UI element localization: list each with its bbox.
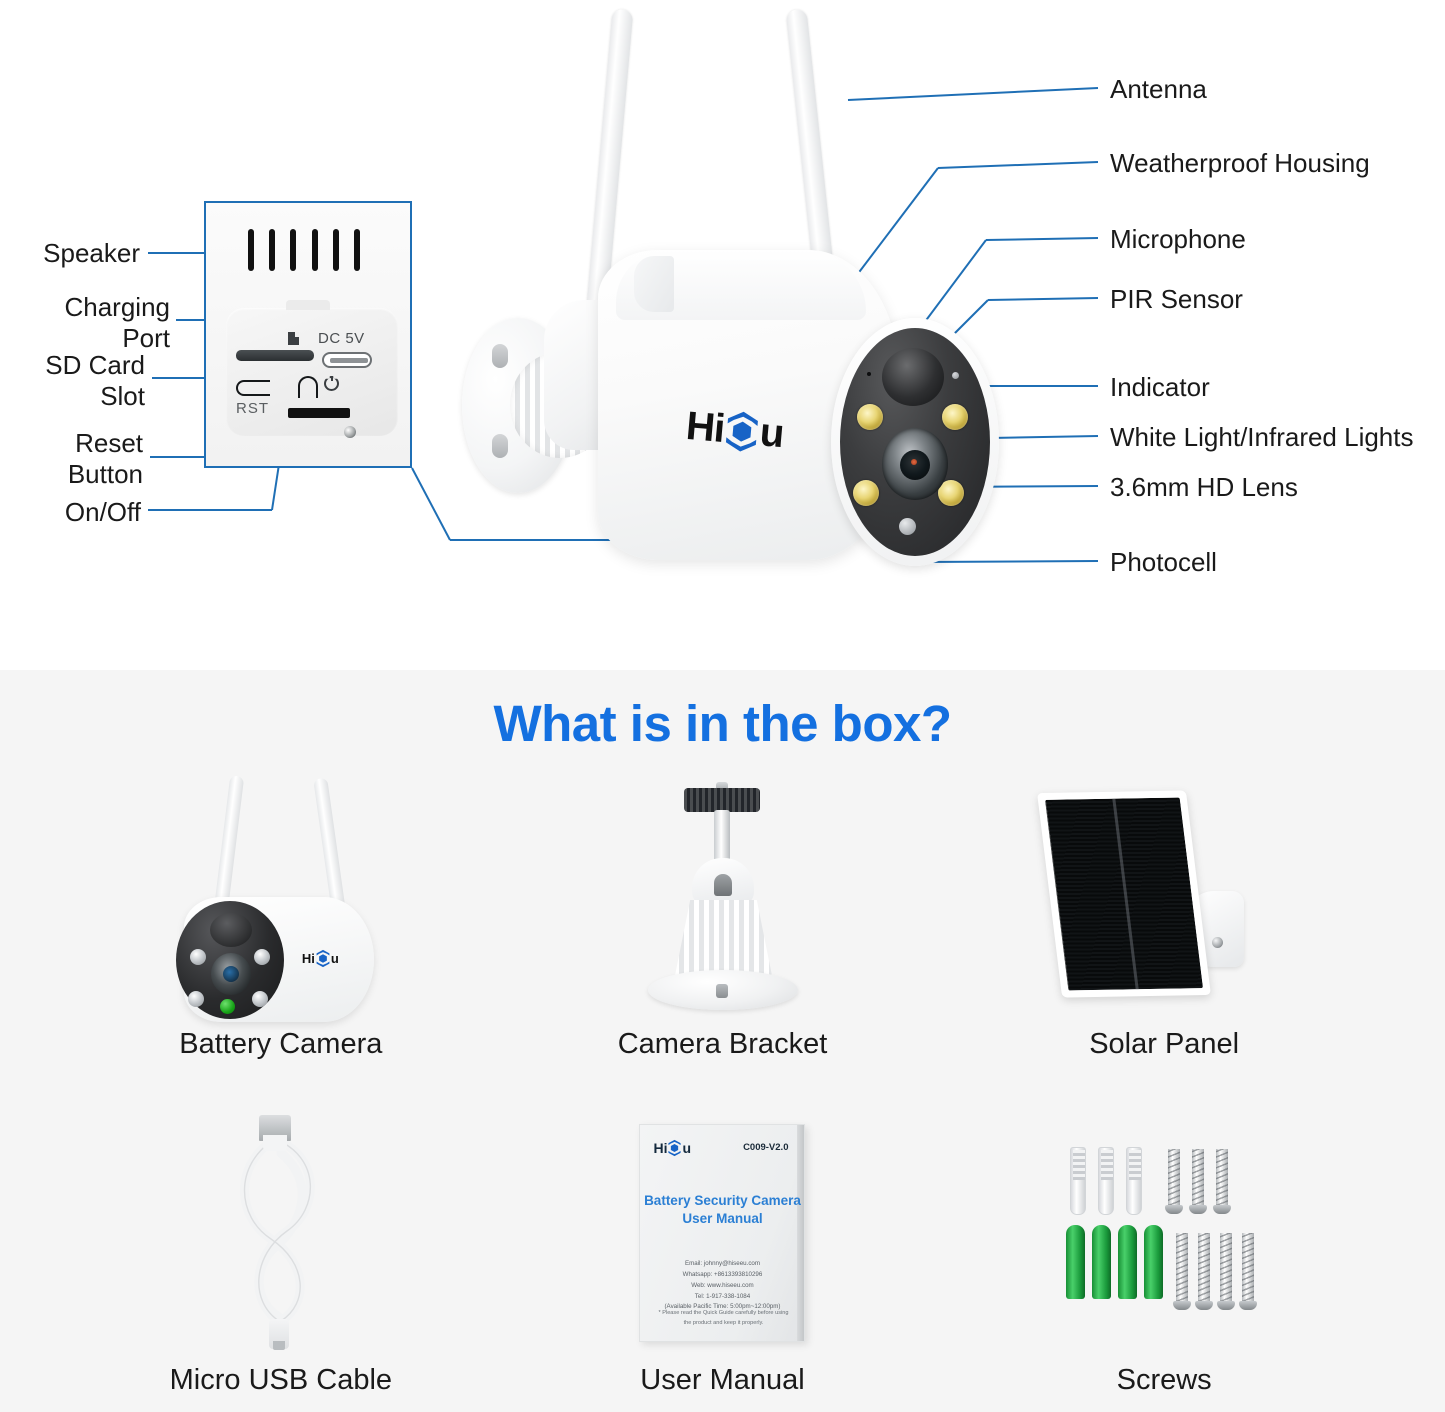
reset-label: RST bbox=[236, 400, 269, 417]
hiseeu-shield-icon bbox=[314, 949, 332, 968]
wall-anchor-white-3 bbox=[1126, 1147, 1142, 1215]
screw-long-3 bbox=[1220, 1233, 1232, 1303]
caption-camera-bracket: Camera Bracket bbox=[618, 1028, 828, 1061]
manual-contact-info: Email: johnny@hiseeu.com Whatsapp: +8613… bbox=[640, 1259, 804, 1313]
wall-anchor-white-2 bbox=[1098, 1147, 1114, 1215]
screw-hole bbox=[344, 426, 356, 438]
screw-short-2 bbox=[1192, 1149, 1204, 1207]
label-photocell: Photocell bbox=[1110, 547, 1217, 578]
mini-hiseeu-logo: Hi u bbox=[302, 949, 339, 968]
box-item-camera-bracket: Camera Bracket bbox=[502, 766, 944, 1102]
label-indicator: Indicator bbox=[1110, 372, 1210, 403]
mini-ir-led-bottom-left bbox=[188, 991, 204, 1007]
power-icon bbox=[324, 376, 339, 391]
sd-card-slot[interactable] bbox=[236, 350, 314, 361]
screw-long-4 bbox=[1242, 1233, 1254, 1303]
solar-panel-art bbox=[943, 766, 1385, 1028]
screw-long-1 bbox=[1176, 1233, 1188, 1303]
mount-screw-slot-top bbox=[492, 344, 508, 368]
indicator-led bbox=[952, 372, 959, 379]
box-item-user-manual: Hi u C009-V2.0 Battery Secur bbox=[502, 1102, 944, 1412]
bracket-ribbed-cone bbox=[674, 900, 772, 978]
speaker-grille-icon bbox=[248, 229, 360, 271]
label-microphone: Microphone bbox=[1110, 224, 1246, 255]
hiseeu-shield-icon bbox=[666, 1139, 683, 1157]
mini-camera-face bbox=[176, 901, 284, 1019]
usb-a-connector bbox=[259, 1115, 291, 1141]
wall-anchor-white-1 bbox=[1070, 1147, 1086, 1215]
dc-voltage-label: DC 5V bbox=[318, 330, 365, 347]
infographic-page: DC 5V RST Speaker Charging Port SD Card … bbox=[0, 0, 1445, 1412]
box-item-solar-panel: Solar Panel bbox=[943, 766, 1385, 1102]
label-reset-button: Reset Button bbox=[0, 428, 143, 489]
label-antenna: Antenna bbox=[1110, 74, 1207, 105]
bracket-knurled-knob bbox=[684, 788, 760, 812]
label-speaker: Speaker bbox=[0, 238, 140, 269]
camera-diagram-section: DC 5V RST Speaker Charging Port SD Card … bbox=[0, 0, 1445, 670]
bracket-base-plate bbox=[648, 970, 798, 1010]
mini-camera-lens bbox=[211, 953, 251, 995]
manual-title-line1: Battery Security Camera bbox=[640, 1193, 804, 1208]
pir-sensor bbox=[882, 348, 944, 406]
micro-usb-charging-port[interactable] bbox=[322, 352, 372, 368]
manual-note: * Please read the Quick Guide carefully … bbox=[654, 1309, 792, 1328]
battery-camera-art: Hi u bbox=[60, 766, 502, 1028]
caption-solar-panel: Solar Panel bbox=[1089, 1028, 1239, 1061]
label-sd-card-slot: SD Card Slot bbox=[0, 350, 145, 411]
label-white-infrared-lights: White Light/Infrared Lights bbox=[1110, 422, 1414, 453]
manual-brand-prefix: Hi bbox=[653, 1140, 667, 1156]
mini-pir-sensor bbox=[210, 913, 252, 947]
label-weatherproof-housing: Weatherproof Housing bbox=[1110, 148, 1370, 179]
port-detail-panel: DC 5V RST bbox=[204, 201, 412, 468]
camera-face-plate bbox=[840, 328, 990, 556]
screw-long-2 bbox=[1198, 1233, 1210, 1303]
caption-user-manual: User Manual bbox=[640, 1364, 804, 1397]
mini-ir-led-top-left bbox=[190, 949, 206, 965]
main-camera-illustration: Hi u bbox=[448, 0, 1048, 640]
box-item-screws: Screws bbox=[943, 1102, 1385, 1412]
onoff-bracket-icon bbox=[298, 376, 318, 398]
wall-anchor-green-1 bbox=[1066, 1225, 1085, 1299]
wall-anchor-green-2 bbox=[1092, 1225, 1111, 1299]
camera-lens bbox=[882, 428, 948, 500]
wall-anchor-green-3 bbox=[1118, 1225, 1137, 1299]
ir-led-bottom-left bbox=[853, 480, 879, 506]
solar-panel-frame bbox=[1037, 790, 1211, 997]
screw-short-3 bbox=[1216, 1149, 1228, 1207]
ir-led-top-right bbox=[942, 404, 968, 430]
label-charging-port: Charging Port bbox=[0, 292, 170, 353]
box-contents-grid: Hi u bbox=[60, 766, 1385, 1412]
port-cluster: DC 5V RST bbox=[226, 308, 398, 436]
manual-title-line2: User Manual bbox=[640, 1211, 804, 1226]
mini-status-led bbox=[220, 999, 235, 1014]
rubber-cover-tab bbox=[286, 300, 330, 310]
camera-bracket-art bbox=[502, 766, 944, 1028]
box-section-title: What is in the box? bbox=[0, 694, 1445, 753]
screw-short-1 bbox=[1168, 1149, 1180, 1207]
sd-card-glyph-icon bbox=[288, 332, 299, 345]
manual-hiseeu-logo: Hi u bbox=[653, 1139, 691, 1157]
label-on-off: On/Off bbox=[0, 497, 141, 528]
bracket-ball-joint bbox=[692, 858, 754, 906]
mini-ir-led-top-right bbox=[254, 949, 270, 965]
mini-ir-led-bottom-right bbox=[252, 991, 268, 1007]
solar-panel-cells bbox=[1045, 798, 1203, 991]
screws-art bbox=[943, 1102, 1385, 1364]
reset-bracket-icon bbox=[236, 380, 270, 396]
manual-model-number: C009-V2.0 bbox=[743, 1142, 788, 1153]
mount-screw-slot-bottom bbox=[492, 434, 508, 458]
hiseeu-brand-logo: Hi u bbox=[684, 404, 785, 457]
microphone-hole bbox=[867, 372, 871, 376]
camera-sunshade bbox=[634, 256, 674, 312]
caption-screws: Screws bbox=[1117, 1364, 1212, 1397]
caption-micro-usb-cable: Micro USB Cable bbox=[170, 1364, 392, 1397]
user-manual-art: Hi u C009-V2.0 Battery Secur bbox=[502, 1102, 944, 1364]
manual-brand-suffix: u bbox=[682, 1140, 691, 1156]
power-switch[interactable] bbox=[288, 408, 350, 418]
ir-led-top-left bbox=[857, 404, 883, 430]
lens-core bbox=[900, 450, 930, 480]
camera-front-face bbox=[831, 318, 999, 566]
micro-usb-connector bbox=[269, 1319, 289, 1349]
wall-anchor-green-4 bbox=[1144, 1225, 1163, 1299]
box-item-battery-camera: Hi u bbox=[60, 766, 502, 1102]
box-contents-section: What is in the box? Hi bbox=[0, 670, 1445, 1412]
micro-usb-cable-art bbox=[60, 1102, 502, 1364]
mini-brand-suffix: u bbox=[331, 951, 339, 966]
label-pir-sensor: PIR Sensor bbox=[1110, 284, 1243, 315]
box-item-micro-usb-cable: Micro USB Cable bbox=[60, 1102, 502, 1412]
caption-battery-camera: Battery Camera bbox=[179, 1028, 382, 1061]
photocell-sensor bbox=[899, 518, 916, 535]
hiseeu-shield-icon bbox=[719, 407, 765, 454]
label-hd-lens: 3.6mm HD Lens bbox=[1110, 472, 1298, 503]
